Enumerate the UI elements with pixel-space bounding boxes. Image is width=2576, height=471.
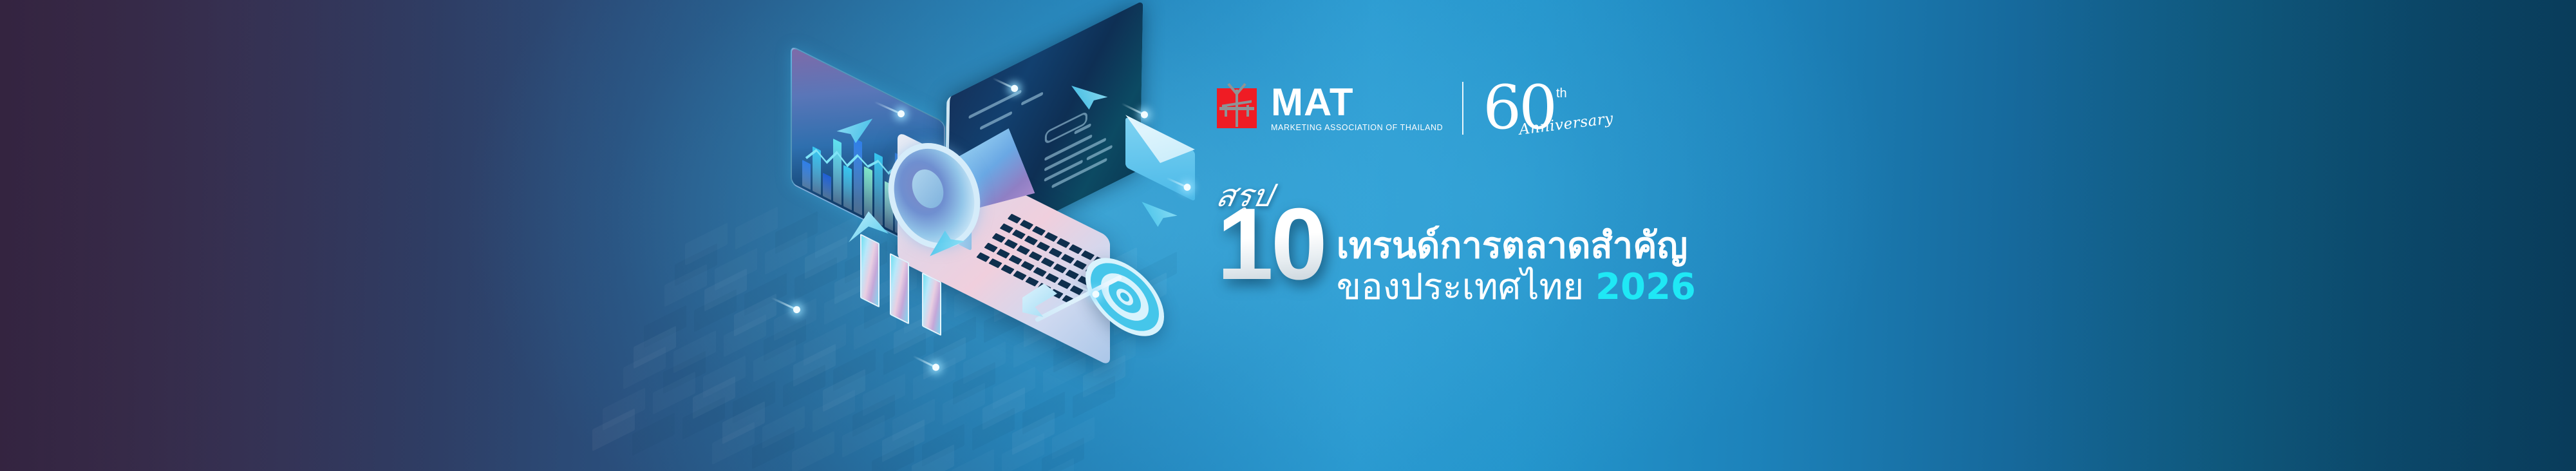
headline-line-2-prefix: ของประเทศไทย: [1337, 266, 1584, 308]
headline-line-2: ของประเทศไทย 2026: [1337, 267, 1696, 308]
headline-lines: เทรนด์การตลาดสำคัญ ของประเทศไทย 2026: [1337, 226, 1696, 308]
mat-wordmark: MAT: [1271, 84, 1443, 120]
logo-divider: [1462, 82, 1463, 135]
headline-line-1: เทรนด์การตลาดสำคัญ: [1337, 226, 1696, 267]
headline-group: 10 เทรนด์การตลาดสำคัญ ของประเทศไทย 2026: [1217, 200, 1696, 308]
anniversary-group: 60 th Anniversary: [1483, 82, 1566, 135]
mat-logo-mark-icon: [1217, 88, 1257, 128]
text-block: MAT MARKETING ASSOCIATION OF THAILAND 60…: [1217, 77, 1861, 139]
anniversary-ordinal: th: [1556, 86, 1567, 101]
headline-year: 2026: [1595, 266, 1696, 308]
mat-wordmark-group: MAT MARKETING ASSOCIATION OF THAILAND: [1271, 84, 1443, 131]
logo-row: MAT MARKETING ASSOCIATION OF THAILAND 60…: [1217, 77, 1861, 139]
headline-number: 10: [1217, 200, 1325, 289]
mat-tagline: MARKETING ASSOCIATION OF THAILAND: [1271, 123, 1443, 132]
banner-root: MAT MARKETING ASSOCIATION OF THAILAND 60…: [0, 0, 2576, 471]
